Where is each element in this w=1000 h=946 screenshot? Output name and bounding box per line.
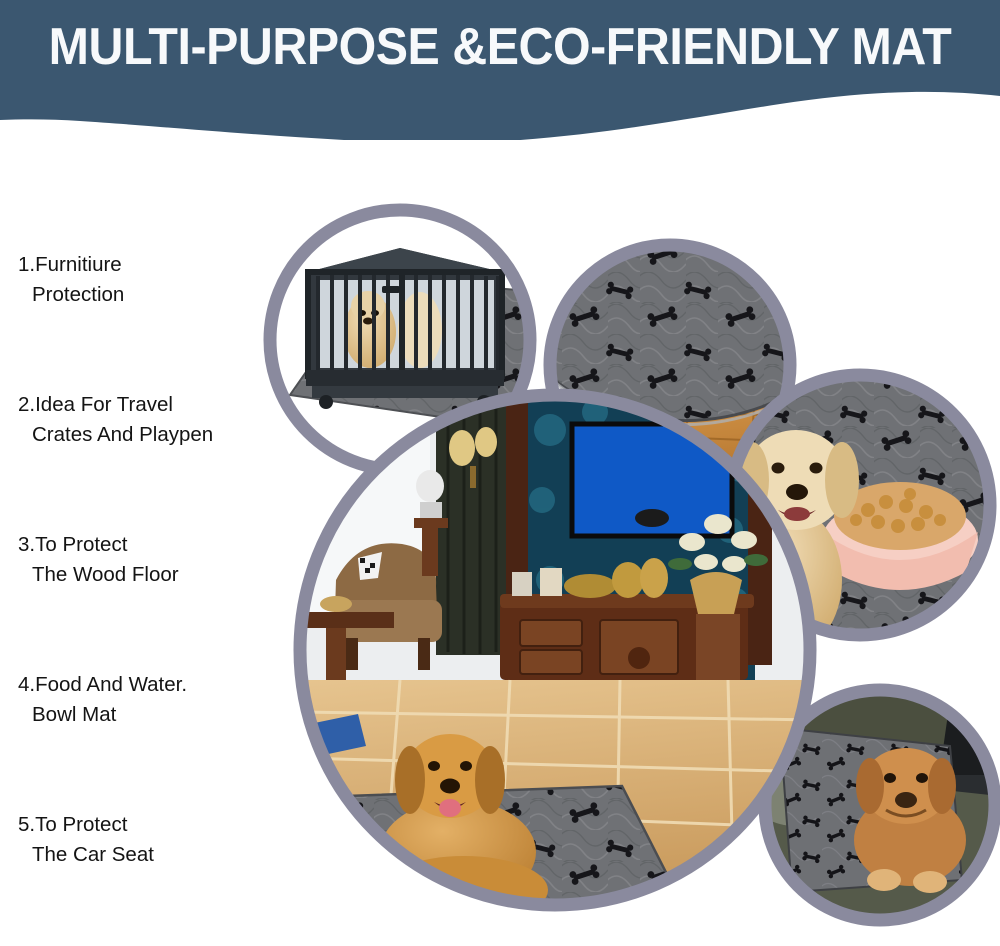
feature-item-5-line1: 5.To Protect <box>18 810 288 840</box>
header-banner: MULTI-PURPOSE &ECO-FRIENDLY MAT <box>0 0 1000 140</box>
feature-item-4: 4.Food And Water. Bowl Mat <box>18 670 288 730</box>
feature-item-1: 1.Furnitiure Protection <box>18 250 288 310</box>
feature-item-4-line2: Bowl Mat <box>18 700 288 730</box>
feature-item-3: 3.To Protect The Wood Floor <box>18 530 288 590</box>
feature-item-5: 5.To Protect The Car Seat <box>18 810 288 870</box>
collage-canvas <box>250 180 1000 946</box>
feature-item-2-line1: 2.Idea For Travel <box>18 390 288 420</box>
feature-item-5-line2: The Car Seat <box>18 840 288 870</box>
feature-item-1-line2: Protection <box>18 280 288 310</box>
page-title: MULTI-PURPOSE &ECO-FRIENDLY MAT <box>35 20 965 75</box>
infographic-page: MULTI-PURPOSE &ECO-FRIENDLY MAT 1.Furnit… <box>0 0 1000 946</box>
feature-item-3-line1: 3.To Protect <box>18 530 288 560</box>
feature-item-2: 2.Idea For Travel Crates And Playpen <box>18 390 288 450</box>
circle-photo-living-room-mat <box>292 395 815 927</box>
feature-item-2-line2: Crates And Playpen <box>18 420 288 450</box>
feature-list: 1.Furnitiure Protection 2.Idea For Trave… <box>0 150 290 930</box>
feature-item-4-line1: 4.Food And Water. <box>18 670 288 700</box>
product-photo-collage <box>250 180 1000 946</box>
feature-item-3-line2: The Wood Floor <box>18 560 288 590</box>
feature-item-1-line1: 1.Furnitiure <box>18 250 288 280</box>
